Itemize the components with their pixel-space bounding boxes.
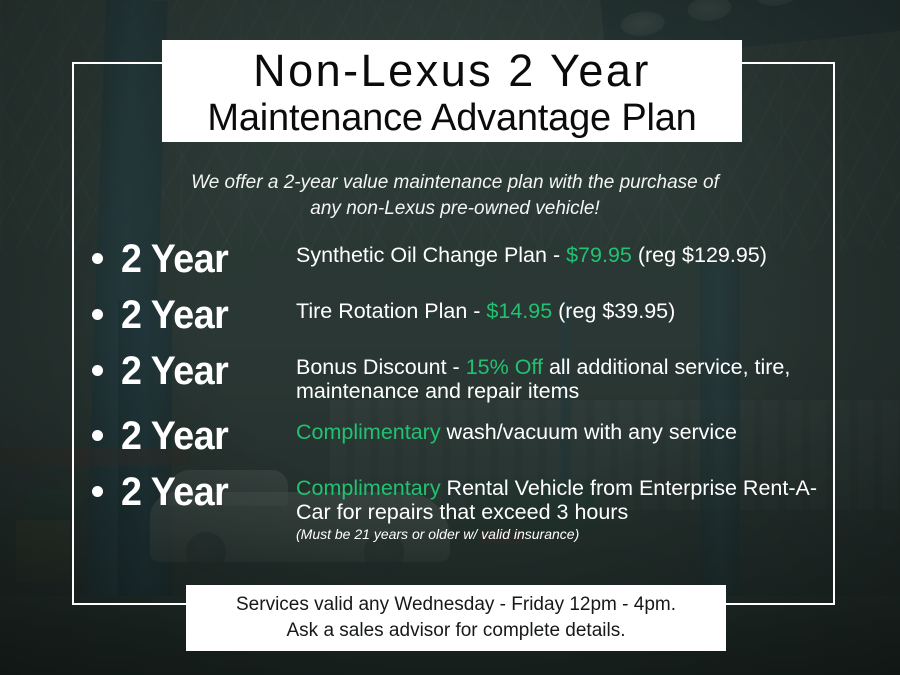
benefit-highlight: $79.95 — [566, 243, 632, 267]
benefit-highlight: 15% Off — [466, 355, 543, 379]
list-item: 2 Year Complimentary wash/vacuum with an… — [92, 413, 832, 459]
benefits-list: 2 Year Synthetic Oil Change Plan - $79.9… — [92, 236, 832, 553]
term-label: 2 Year — [121, 292, 286, 338]
list-item: 2 Year Tire Rotation Plan - $14.95 (reg … — [92, 292, 832, 338]
benefit-text-after: wash/vacuum with any service — [441, 420, 737, 444]
bullet-dot-icon — [92, 253, 103, 264]
footer-line2: Ask a sales advisor for complete details… — [186, 618, 726, 644]
benefit-description: Complimentary wash/vacuum with any servi… — [296, 413, 832, 444]
term-label: 2 Year — [121, 236, 286, 282]
subtitle-line1: We offer a 2-year value maintenance plan… — [150, 170, 760, 196]
benefit-text-before: Bonus Discount - — [296, 355, 466, 379]
page-title-line1: Non-Lexus 2 Year — [162, 46, 742, 96]
list-item: 2 Year Complimentary Rental Vehicle from… — [92, 469, 832, 543]
bullet-dot-icon — [92, 486, 103, 497]
list-item: 2 Year Bonus Discount - 15% Off all addi… — [92, 348, 832, 403]
promo-poster: Non-Lexus 2 Year Maintenance Advantage P… — [0, 0, 900, 675]
subtitle: We offer a 2-year value maintenance plan… — [150, 170, 760, 222]
benefit-highlight: Complimentary — [296, 420, 441, 444]
term-label: 2 Year — [121, 348, 286, 394]
subtitle-line2: any non-Lexus pre-owned vehicle! — [150, 196, 760, 222]
term-label: 2 Year — [121, 469, 286, 515]
benefit-fineprint: (Must be 21 years or older w/ valid insu… — [296, 525, 832, 543]
benefit-highlight: Complimentary — [296, 476, 441, 500]
benefit-text-after: (reg $129.95) — [632, 243, 767, 267]
benefit-description: Complimentary Rental Vehicle from Enterp… — [296, 469, 832, 543]
benefit-highlight: $14.95 — [486, 299, 552, 323]
benefit-description: Synthetic Oil Change Plan - $79.95 (reg … — [296, 236, 832, 267]
footer-box: Services valid any Wednesday - Friday 12… — [186, 585, 726, 651]
title-box: Non-Lexus 2 Year Maintenance Advantage P… — [162, 40, 742, 142]
bullet-dot-icon — [92, 365, 103, 376]
benefit-description: Tire Rotation Plan - $14.95 (reg $39.95) — [296, 292, 832, 323]
term-label: 2 Year — [121, 413, 286, 459]
benefit-text-before: Synthetic Oil Change Plan - — [296, 243, 566, 267]
page-title-line2: Maintenance Advantage Plan — [162, 96, 742, 140]
benefit-text-before: Tire Rotation Plan - — [296, 299, 486, 323]
list-item: 2 Year Synthetic Oil Change Plan - $79.9… — [92, 236, 832, 282]
bullet-dot-icon — [92, 430, 103, 441]
benefit-description: Bonus Discount - 15% Off all additional … — [296, 348, 832, 403]
footer-line1: Services valid any Wednesday - Friday 12… — [186, 592, 726, 618]
benefit-text-after: (reg $39.95) — [552, 299, 675, 323]
bullet-dot-icon — [92, 309, 103, 320]
